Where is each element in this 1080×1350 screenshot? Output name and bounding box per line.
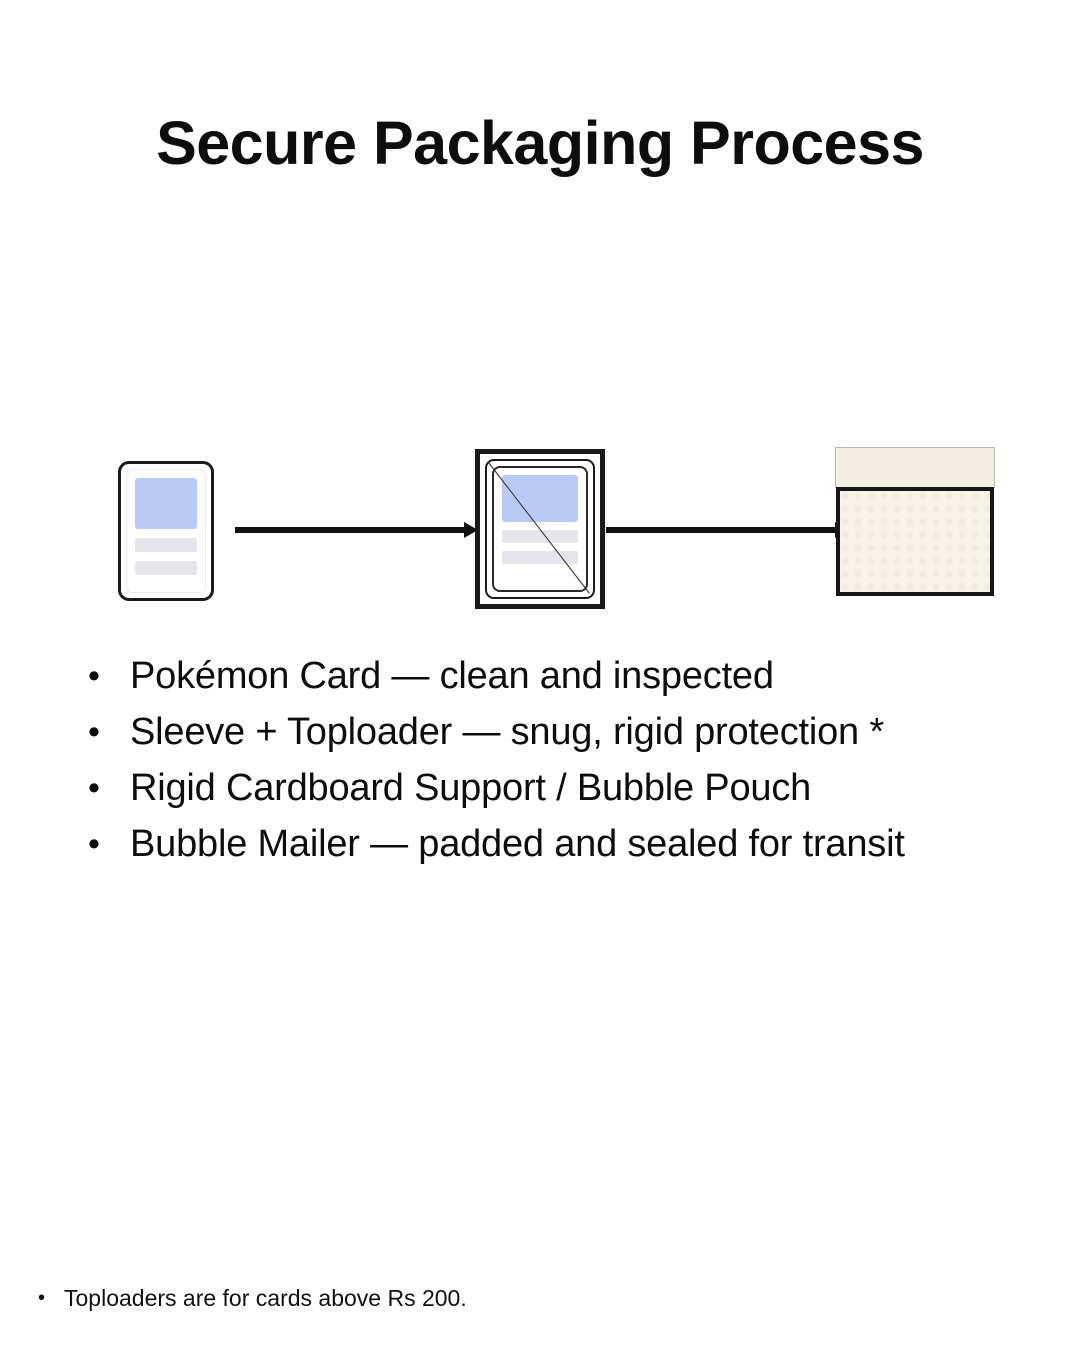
stage-bare-card	[118, 461, 214, 601]
list-item: • Rigid Cardboard Support / Bubble Pouch	[88, 760, 1048, 816]
bullet-marker: •	[88, 816, 130, 872]
arrow-right-icon	[606, 520, 849, 540]
bubble-texture	[840, 491, 990, 592]
list-item-label: Bubble Mailer — padded and sealed for tr…	[130, 816, 1048, 872]
page-title: Secure Packaging Process	[0, 108, 1080, 178]
sleeve-shine-line	[487, 461, 593, 597]
mailer-flap	[835, 447, 995, 488]
list-item-label: Sleeve + Toploader — snug, rigid protect…	[130, 704, 1048, 760]
stage-sleeved-toploader	[475, 449, 605, 609]
list-item-label: Rigid Cardboard Support / Bubble Pouch	[130, 760, 1048, 816]
packaging-steps-list: • Pokémon Card — clean and inspected • S…	[88, 648, 1048, 872]
list-item: • Pokémon Card — clean and inspected	[88, 648, 1048, 704]
footnote-label: Toploaders are for cards above Rs 200.	[64, 1281, 467, 1315]
footnote: • Toploaders are for cards above Rs 200.	[38, 1281, 467, 1315]
arrow-shaft	[235, 527, 467, 533]
mailer-body	[836, 487, 994, 596]
list-item-label: Pokémon Card — clean and inspected	[130, 648, 1048, 704]
stage-bubble-mailer	[835, 447, 995, 596]
list-item: • Bubble Mailer — padded and sealed for …	[88, 816, 1048, 872]
sleeve-outline	[485, 459, 595, 599]
card-text-bar	[135, 561, 197, 575]
footnote-marker: •	[38, 1281, 64, 1315]
card-artwork-block	[135, 478, 197, 529]
bullet-marker: •	[88, 648, 130, 704]
arrow-right-icon	[235, 520, 478, 540]
card-text-bar	[135, 538, 197, 552]
list-item: • Sleeve + Toploader — snug, rigid prote…	[88, 704, 1048, 760]
bullet-marker: •	[88, 760, 130, 816]
card-face	[126, 469, 206, 593]
arrow-shaft	[606, 527, 838, 533]
bullet-marker: •	[88, 704, 130, 760]
